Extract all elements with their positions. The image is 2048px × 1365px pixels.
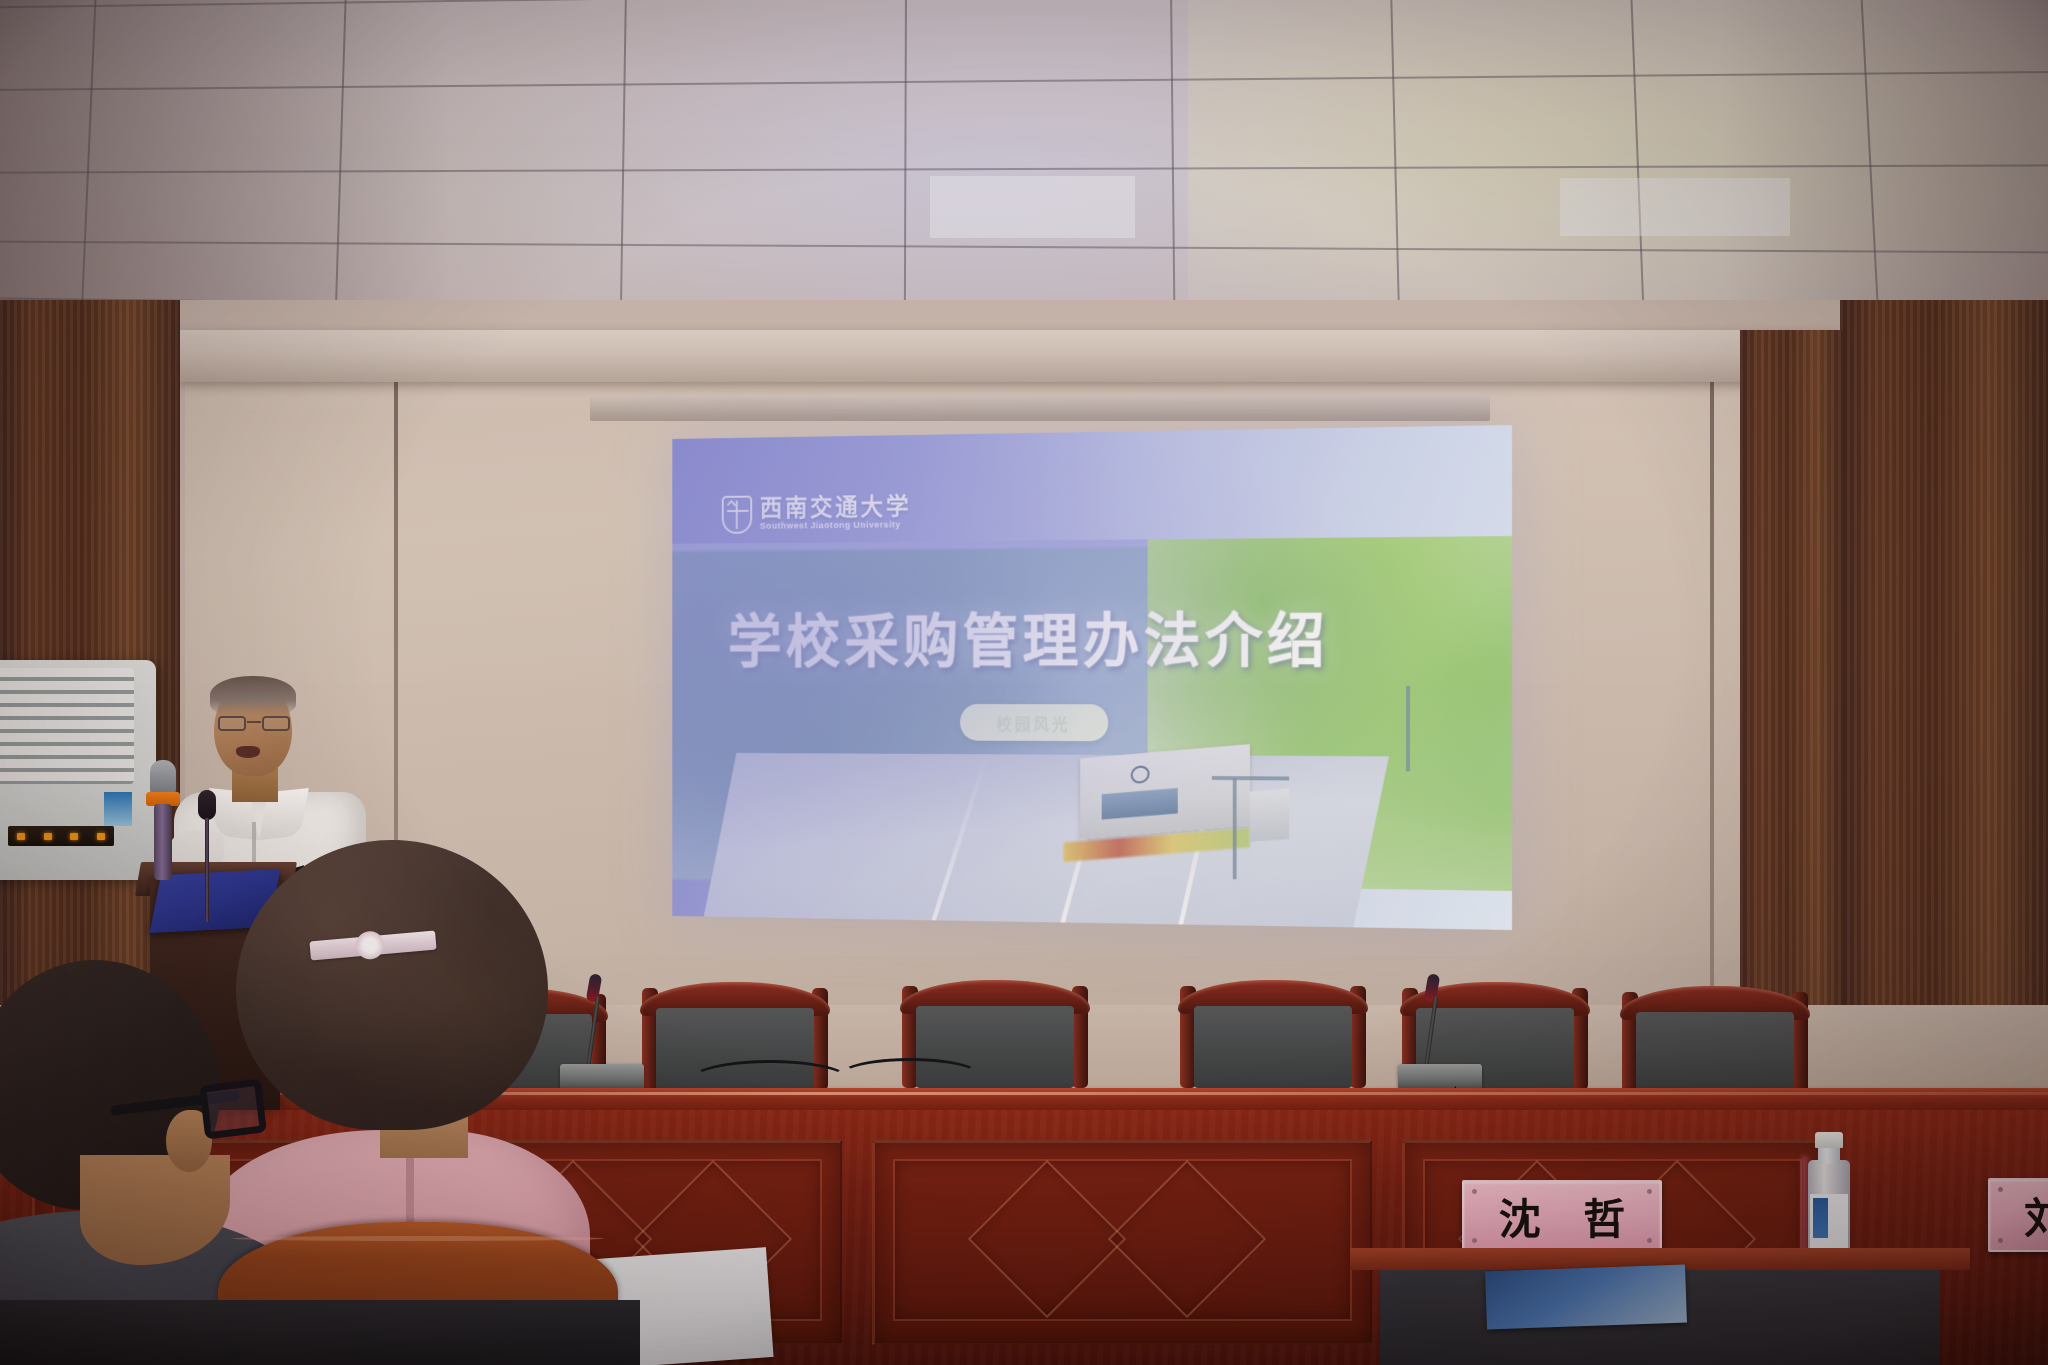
presenter-mouth — [236, 746, 260, 758]
nameplate-text: 刘海 — [2020, 1185, 2048, 1246]
ceiling-shadow-right — [1720, 0, 2048, 320]
chair-backrest — [1636, 1012, 1794, 1094]
university-shield-icon — [722, 495, 752, 533]
stand-mic-capsule — [198, 790, 216, 820]
microphone-cable — [840, 1058, 980, 1092]
table-panel-inner — [893, 1159, 1352, 1321]
podium-stand-microphone[interactable] — [196, 790, 218, 920]
slide-pill-label: 校园风光 — [996, 711, 1070, 735]
ceiling-tile-bright — [930, 176, 1135, 238]
air-conditioner-display[interactable] — [8, 826, 114, 846]
ac-indicator-led — [70, 833, 78, 840]
microphone-base-unit[interactable] — [560, 1064, 644, 1090]
nameplate-screw — [1998, 1238, 2003, 1243]
nameplate-screw — [1472, 1189, 1477, 1194]
bottle-neck — [1818, 1146, 1840, 1164]
eyeglass-lens — [199, 1078, 267, 1139]
conference-chair[interactable] — [1620, 986, 1810, 1094]
slide-title: 学校采购管理办法介绍 — [728, 593, 1329, 679]
nameplate-screw — [1647, 1238, 1652, 1243]
photo-street-lamp — [1212, 776, 1289, 780]
projection-screen[interactable]: 西南交通大学 Southwest Jiaotong University 学校采… — [672, 425, 1512, 930]
photo-street-lamp — [1406, 686, 1410, 772]
presentation-slide: 西南交通大学 Southwest Jiaotong University 学校采… — [672, 425, 1512, 930]
handheld-mic-grille — [150, 760, 176, 794]
microphone-capsule — [1424, 973, 1441, 1003]
nameplate-text: 沈 哲 — [1485, 1186, 1640, 1247]
stand-mic-stem — [205, 818, 209, 922]
photo-street-lamp — [1233, 778, 1237, 879]
air-conditioner-label-sticker — [104, 792, 132, 826]
ceiling-tile-bright — [1560, 178, 1790, 236]
microphone-gooseneck — [586, 996, 600, 1068]
eyeglass-lens — [218, 716, 246, 731]
air-conditioner-louvers — [0, 668, 134, 784]
handheld-mic-body — [154, 804, 172, 880]
nameplate: 沈 哲 — [1462, 1180, 1662, 1252]
ac-indicator-led — [97, 833, 105, 840]
table-panel — [872, 1140, 1372, 1345]
eyeglasses-icon — [218, 716, 290, 732]
bottle-cap — [1815, 1132, 1843, 1148]
air-conditioner[interactable] — [0, 660, 156, 880]
screen-housing — [590, 395, 1490, 421]
microphone-capsule — [586, 973, 603, 1003]
ceiling — [0, 0, 2048, 320]
nameplate: 刘海 — [1988, 1178, 2048, 1252]
presenter-hair — [210, 676, 296, 716]
ceiling-shadow-left — [0, 0, 451, 320]
eyeglass-bridge — [247, 721, 261, 723]
foreground-seat — [0, 1300, 640, 1365]
wall-seam — [1710, 382, 1714, 1082]
ac-indicator-led — [17, 833, 25, 840]
handheld-microphone[interactable] — [148, 760, 178, 880]
wood-wall-panel-right-inner — [1740, 330, 1845, 1090]
wall-header-beam — [180, 330, 1840, 382]
conference-booklet[interactable] — [1485, 1265, 1687, 1330]
wood-wall-panel-right — [1840, 300, 2048, 1090]
logo-text-block: 西南交通大学 Southwest Jiaotong University — [760, 495, 911, 532]
nameplate-screw — [1647, 1189, 1652, 1194]
table-panel-diamond — [1108, 1160, 1266, 1318]
slide-university-logo: 西南交通大学 Southwest Jiaotong University — [722, 493, 912, 533]
eyeglass-lens — [262, 716, 290, 731]
road-marking — [931, 755, 988, 921]
microphone-gooseneck — [1424, 996, 1438, 1068]
nameplate-screw — [1998, 1187, 2003, 1192]
gooseneck-microphone[interactable] — [560, 968, 650, 1090]
table-panel-diamond — [968, 1160, 1126, 1318]
gooseneck-microphone[interactable] — [1398, 964, 1488, 1090]
conference-room-photo: 西南交通大学 Southwest Jiaotong University 学校采… — [0, 0, 2048, 1365]
chair-backrest — [1194, 1006, 1352, 1088]
slide-subtitle-pill: 校园风光 — [960, 704, 1108, 741]
nameplate-screw — [1472, 1238, 1477, 1243]
photo-guard-post — [1250, 789, 1289, 843]
conference-chair[interactable] — [1178, 980, 1368, 1088]
ac-indicator-led — [44, 833, 52, 840]
logo-chinese-name: 西南交通大学 — [760, 495, 911, 522]
logo-english-name: Southwest Jiaotong University — [760, 521, 911, 532]
